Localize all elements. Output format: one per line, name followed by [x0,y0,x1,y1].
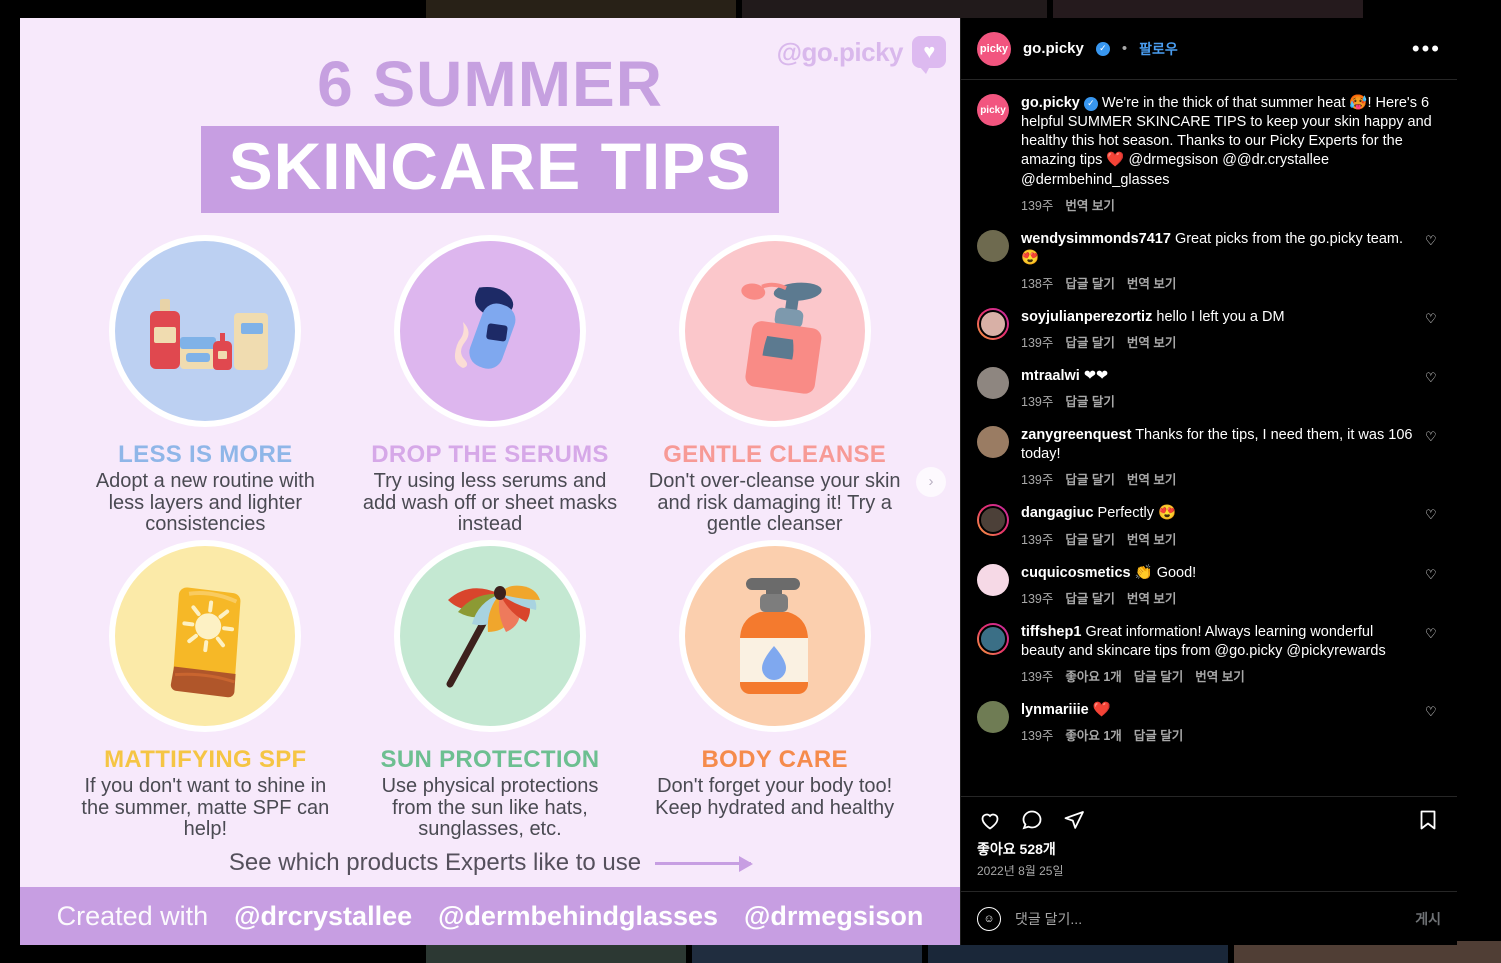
verified-badge-icon: ✓ [1084,97,1098,111]
comment-timestamp: 139주 [1021,332,1053,351]
save-icon[interactable] [1415,807,1441,833]
comment-input[interactable] [1015,911,1401,927]
post-sidebar: picky go.picky ✓ • 팔로우 ••• picky go.pick… [960,18,1457,945]
comment-timestamp: 139주 [1021,725,1053,744]
comment-timestamp: 139주 [1021,666,1053,685]
infographic-watermark: @go.picky ♥ [777,36,946,68]
infographic-credits: Created with @drcrystallee @dermbehindgl… [20,887,960,945]
infographic-cta: See which products Experts like to use [20,845,960,887]
separator-dot: • [1122,40,1127,57]
heart-bubble-icon: ♥ [912,36,946,68]
sunscreen-tube-icon [109,540,301,732]
tip-title: MATTIFYING SPF [104,746,306,774]
comment-text: hello I left you a DM [1156,309,1284,325]
tip-title: DROP THE SERUMS [371,441,608,469]
tip-description: Try using less serums and add wash off o… [360,471,620,536]
like-comment-icon[interactable]: ♡ [1425,504,1441,547]
post-caption: picky go.picky ✓ We're in the thick of t… [977,94,1441,214]
comment-reply-button[interactable]: 답글 달기 [1065,529,1114,548]
avatar[interactable]: picky [977,94,1009,126]
share-icon[interactable] [1061,807,1087,833]
tips-grid: LESS IS MORE Adopt a new routine with le… [20,213,960,845]
comment-reply-button[interactable]: 답글 달기 [1065,332,1114,351]
like-comment-icon[interactable]: ♡ [1425,230,1441,292]
like-count[interactable]: 좋아요 528개 [961,835,1457,859]
comment-reply-button[interactable]: 답글 달기 [1134,666,1183,685]
comment-like-count[interactable]: 좋아요 1개 [1065,725,1121,744]
comment-reply-button[interactable]: 답글 달기 [1065,588,1114,607]
post-header: picky go.picky ✓ • 팔로우 ••• [961,18,1457,80]
comment-item: lynmariiie ❤️ 139주 좋아요 1개 답글 달기 ♡ [977,701,1441,744]
post-date: 2022년 8월 25일 [961,859,1457,891]
more-options-icon[interactable]: ••• [1412,44,1441,54]
tip-description: Don't over-cleanse your skin and risk da… [645,471,905,536]
credit-handle-2: @dermbehindglasses [438,901,718,932]
avatar[interactable] [977,504,1009,536]
post-author-username[interactable]: go.picky [1023,40,1084,57]
avatar[interactable] [977,564,1009,596]
comment-text: ❤❤ [1084,368,1108,384]
tip-card-gentle-cleanse: GENTLE CLEANSE Don't over-cleanse your s… [635,235,914,540]
comment-timestamp: 139주 [1021,391,1053,410]
comment-reply-button[interactable]: 답글 달기 [1065,391,1114,410]
comment-translate-button[interactable]: 번역 보기 [1127,588,1176,607]
comment-username[interactable]: wendysimmonds7417 [1021,231,1171,247]
comments-thread[interactable]: picky go.picky ✓ We're in the thick of t… [961,80,1457,796]
comment-reply-button[interactable]: 답글 달기 [1065,469,1114,488]
comment-reply-button[interactable]: 답글 달기 [1065,273,1114,292]
tip-card-sun-protection: SUN PROTECTION Use physical protections … [351,540,630,845]
add-comment-bar: ☺ 게시 [961,891,1457,945]
title-line-2: SKINCARE TIPS [229,132,752,201]
tip-description: Use physical protections from the sun li… [360,776,620,841]
emoji-picker-icon[interactable]: ☺ [977,907,1001,931]
post-modal: @go.picky ♥ 6 SUMMER SKINCARE TIPS [20,18,1457,945]
carousel-next-button[interactable]: › [916,467,946,497]
comment-username[interactable]: cuquicosmetics [1021,565,1131,581]
comment-item: cuquicosmetics 👏 Good! 139주 답글 달기 번역 보기 … [977,564,1441,607]
comment-username[interactable]: zanygreenquest [1021,427,1131,443]
tip-card-drop-the-serums: DROP THE SERUMS Try using less serums an… [351,235,630,540]
tip-card-body-care: BODY CARE Don't forget your body too! Ke… [635,540,914,845]
tip-card-mattifying-spf: MATTIFYING SPF If you don't want to shin… [66,540,345,845]
comment-item: tiffshep1 Great information! Always lear… [977,623,1441,685]
like-comment-icon[interactable]: ♡ [1425,623,1441,685]
infographic-slide: @go.picky ♥ 6 SUMMER SKINCARE TIPS [20,18,960,945]
tip-description: If you don't want to shine in the summer… [75,776,335,841]
avatar[interactable] [977,308,1009,340]
comment-text: Perfectly 😍 [1098,505,1177,521]
comment-translate-button[interactable]: 번역 보기 [1195,666,1244,685]
avatar[interactable] [977,230,1009,262]
tip-description: Don't forget your body too! Keep hydrate… [645,776,905,819]
avatar[interactable] [977,367,1009,399]
lotion-pump-icon [679,540,871,732]
comment-icon[interactable] [1019,807,1045,833]
avatar[interactable] [977,623,1009,655]
like-comment-icon[interactable]: ♡ [1425,564,1441,607]
post-comment-button[interactable]: 게시 [1415,909,1441,929]
tip-card-less-is-more: LESS IS MORE Adopt a new routine with le… [66,235,345,540]
like-comment-icon[interactable]: ♡ [1425,308,1441,351]
comment-username[interactable]: mtraalwi [1021,368,1080,384]
comment-translate-button[interactable]: 번역 보기 [1127,529,1176,548]
caption-text: go.picky ✓ We're in the thick of that su… [1021,94,1441,190]
avatar[interactable] [977,701,1009,733]
title-line-2-highlight: SKINCARE TIPS [201,126,780,213]
created-with-label: Created with [57,901,209,932]
chevron-right-icon: › [929,473,934,490]
like-comment-icon[interactable]: ♡ [1425,426,1441,488]
comment-username[interactable]: lynmariiie [1021,702,1089,718]
comment-username[interactable]: soyjulianperezortiz [1021,309,1152,325]
like-icon[interactable] [977,807,1003,833]
credit-handle-3: @drmegsison [744,901,923,932]
tip-title: GENTLE CLEANSE [663,441,886,469]
comment-translate-button[interactable]: 번역 보기 [1127,273,1176,292]
comment-timestamp: 139주 [1021,529,1053,548]
skincare-bottles-icon [109,235,301,427]
tip-description: Adopt a new routine with less layers and… [75,471,335,536]
comment-item: mtraalwi ❤❤ 139주 답글 달기 ♡ [977,367,1441,410]
comment-text: 👏 Good! [1135,565,1197,581]
credit-handle-1: @drcrystallee [234,901,412,932]
comment-translate-button[interactable]: 번역 보기 [1127,469,1176,488]
comment-username[interactable]: tiffshep1 [1021,624,1081,640]
watermark-handle: @go.picky [777,37,903,68]
comment-item: dangagiuc Perfectly 😍 139주 답글 달기 번역 보기 ♡ [977,504,1441,547]
comment-timestamp: 139주 [1021,469,1053,488]
pump-cleanser-icon [679,235,871,427]
tip-title: SUN PROTECTION [381,746,600,774]
comment-translate-button[interactable]: 번역 보기 [1127,332,1176,351]
comment-text: ❤️ [1093,702,1111,718]
avatar[interactable]: picky [977,32,1011,66]
comment-reply-button[interactable]: 답글 달기 [1134,725,1183,744]
beach-umbrella-icon [394,540,586,732]
comment-item: zanygreenquest Thanks for the tips, I ne… [977,426,1441,488]
caption-username[interactable]: go.picky [1021,95,1080,111]
cta-text: See which products Experts like to use [229,849,641,877]
comment-timestamp: 139주 [1021,588,1053,607]
caption-body: We're in the thick of that summer heat 🥵… [1021,95,1432,188]
comment-username[interactable]: dangagiuc [1021,505,1094,521]
arrow-right-icon [655,862,751,865]
comment-item: soyjulianperezortiz hello I left you a D… [977,308,1441,351]
serum-dropper-icon [394,235,586,427]
comment-timestamp: 138주 [1021,273,1053,292]
caption-timestamp: 139주 [1021,195,1053,214]
verified-badge-icon: ✓ [1096,42,1110,56]
carousel-media[interactable]: @go.picky ♥ 6 SUMMER SKINCARE TIPS [20,18,960,945]
tip-title: BODY CARE [702,746,848,774]
like-comment-icon[interactable]: ♡ [1425,701,1441,744]
like-comment-icon[interactable]: ♡ [1425,367,1441,410]
post-actions-bar [961,796,1457,835]
comment-item: wendysimmonds7417 Great picks from the g… [977,230,1441,292]
caption-translate-button[interactable]: 번역 보기 [1065,195,1114,214]
tip-title: LESS IS MORE [118,441,292,469]
avatar[interactable] [977,426,1009,458]
comment-like-count[interactable]: 좋아요 1개 [1065,666,1121,685]
follow-button[interactable]: 팔로우 [1139,39,1178,59]
